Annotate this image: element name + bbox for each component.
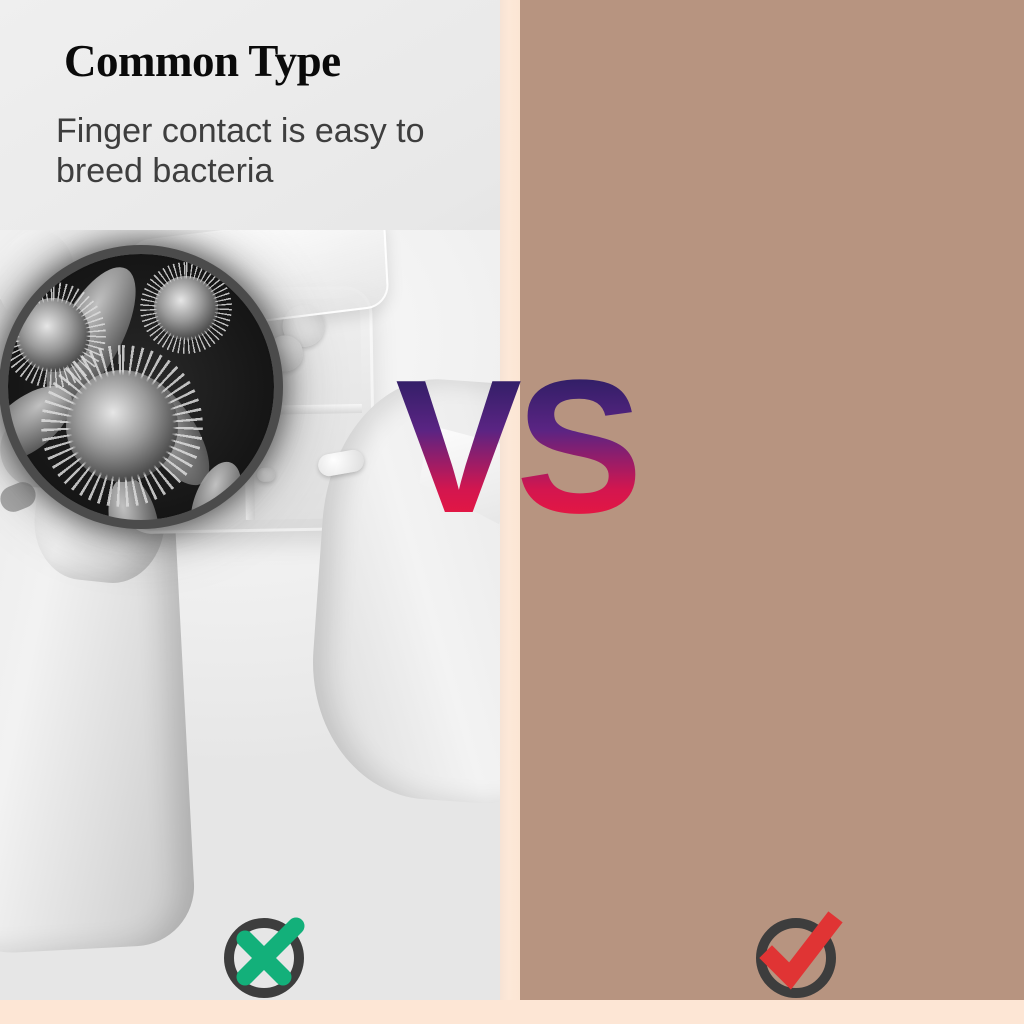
bacteria-microscope-inset: [8, 254, 274, 520]
left-heading-block: Common Type Finger contact is easy to br…: [56, 38, 486, 191]
bottom-border-strip: [0, 1000, 1024, 1024]
left-comparison-panel: Common Type Finger contact is easy to br…: [0, 0, 500, 1000]
comparison-infographic: Common Type Finger contact is easy to br…: [0, 0, 1024, 1024]
check-in-circle-icon: [750, 908, 842, 1000]
common-type-product-photo: [0, 230, 500, 1000]
panel-divider: [500, 0, 520, 1000]
cross-in-circle-icon: [218, 908, 310, 1000]
right-comparison-panel: Non Contact design Take the pills withou…: [520, 0, 1024, 1000]
left-panel-title: Common Type: [56, 38, 486, 85]
left-panel-subtitle: Finger contact is easy to breed bacteria: [56, 111, 486, 191]
